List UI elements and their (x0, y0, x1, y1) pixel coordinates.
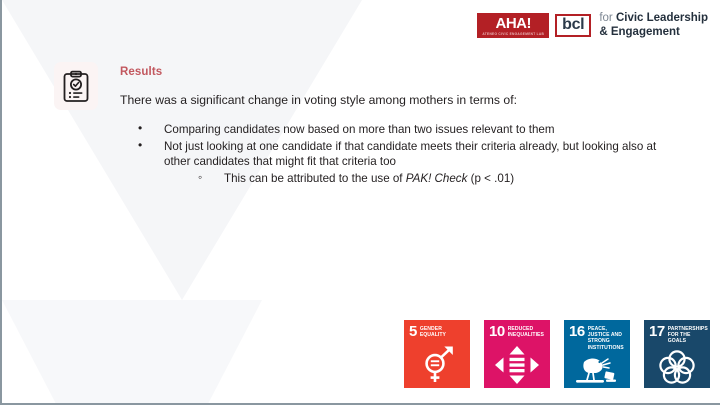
aha-subtitle: ATENEO CIVIC ENGAGEMENT LAB (482, 33, 544, 36)
aha-wordmark: AHA! (496, 16, 532, 31)
sdg-label: PEACE, JUSTICE AND STRONG INSTITUTIONS (585, 325, 626, 351)
list-item: Not just looking at one candidate if tha… (138, 139, 680, 186)
sdg-art (564, 355, 630, 385)
sdg-number: 17 (649, 325, 665, 345)
bg-triangle-2 (2, 300, 262, 403)
brand-tagline: for Civic Leadership & Engagement (597, 12, 708, 39)
sdg-art (644, 349, 710, 385)
sdg-header: 10 REDUCED INEQUALITIES (484, 320, 550, 338)
bcl-wordmark: bcl (562, 16, 584, 33)
lead-paragraph: There was a significant change in voting… (120, 92, 680, 108)
sdg-header: 17 PARTNERSHIPS FOR THE GOALS (644, 320, 710, 345)
list-item: Comparing candidates now based on more t… (138, 122, 680, 137)
page-title: Results (120, 66, 680, 78)
sdg-number: 5 (409, 325, 417, 338)
brand-tagline-line-1: for Civic Leadership (599, 12, 708, 26)
sdg-label: PARTNERSHIPS FOR THE GOALS (665, 325, 708, 345)
bullet-text: Not just looking at one candidate if tha… (164, 140, 656, 168)
brand-tagline-line-2: & Engagement (599, 26, 708, 40)
sdg-badge-16: 16 PEACE, JUSTICE AND STRONG INSTITUTION… (564, 320, 630, 388)
sdg-header: 16 PEACE, JUSTICE AND STRONG INSTITUTION… (564, 320, 630, 351)
bullet-text: Comparing candidates now based on more t… (164, 123, 555, 136)
aha-logo-mark: AHA! ATENEO CIVIC ENGAGEMENT LAB (477, 13, 549, 38)
presentation-slide: AHA! ATENEO CIVIC ENGAGEMENT LAB bcl for… (0, 0, 720, 405)
sdg-badge-5: 5 GENDER EQUALITY (404, 320, 470, 388)
partnerships-icon (658, 349, 696, 385)
sdg-label: REDUCED INEQUALITIES (505, 325, 546, 338)
bcl-logo-mark: bcl (555, 14, 591, 37)
sdg-badge-row: 5 GENDER EQUALITY 10 REDUCED INEQUALITIE… (404, 320, 710, 388)
sdg-badge-10: 10 REDUCED INEQUALITIES (484, 320, 550, 388)
sub-bullet-prefix: This can be attributed to the use of (224, 172, 406, 185)
clipboard-check-icon (62, 70, 90, 103)
sub-bullet-suffix: (p < .01) (467, 172, 514, 185)
sdg-label: GENDER EQUALITY (417, 325, 466, 338)
sub-bullet-italic-term: PAK! Check (406, 172, 468, 185)
sdg-number: 16 (569, 325, 585, 351)
sub-bullet-list: This can be attributed to the use of PAK… (198, 171, 680, 186)
sdg-header: 5 GENDER EQUALITY (404, 320, 470, 338)
tagline-for-word: for (599, 12, 616, 24)
sdg-art (404, 345, 470, 385)
results-icon-badge (54, 62, 98, 110)
peace-justice-icon (572, 355, 622, 385)
gender-equality-icon (416, 345, 458, 385)
slide-content: Results There was a significant change i… (120, 66, 680, 187)
sdg-badge-17: 17 PARTNERSHIPS FOR THE GOALS (644, 320, 710, 388)
reduced-inequalities-icon (494, 345, 540, 385)
list-item: This can be attributed to the use of PAK… (198, 171, 680, 186)
brand-logo-lockup: AHA! ATENEO CIVIC ENGAGEMENT LAB bcl for… (477, 12, 708, 39)
bullet-list: Comparing candidates now based on more t… (138, 122, 680, 186)
sdg-number: 10 (489, 325, 505, 338)
tagline-engagement: & Engagement (599, 26, 680, 38)
sdg-art (484, 345, 550, 385)
tagline-civic-leadership: Civic Leadership (616, 12, 708, 24)
